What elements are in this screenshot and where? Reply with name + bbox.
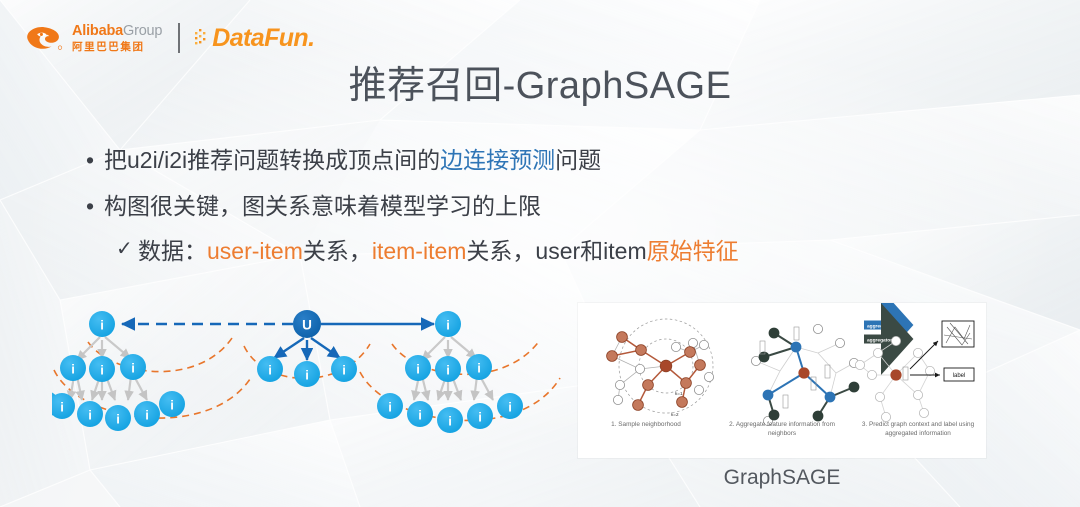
sub-seg-user-item: user-item [207,238,303,264]
svg-text:i: i [88,408,92,423]
label-box: label [944,368,974,381]
alibaba-logo-line1: AlibabaGroup [72,24,162,39]
sub-seg-raw-features: 原始特征 [647,238,739,264]
svg-text:i: i [478,410,482,425]
bullet-2-text: 构图很关键，图关系意味着模型学习的上限 [104,192,541,221]
bullet-list: • 把u2i/i2i推荐问题转换成顶点间的边连接预测问题 • 构图很关键，图关系… [86,146,739,265]
alibaba-logo-chinese: 阿里巴巴集团 [72,42,162,53]
svg-text:aggregator: aggregator [867,337,892,343]
u2i-i2i-graph-illustration: i i i i i i i i [52,296,582,476]
bullet-1-text: 把u2i/i2i推荐问题转换成顶点间的边连接预测问题 [104,146,601,175]
alibaba-logo-text: AlibabaGroup 阿里巴巴集团 [72,24,162,52]
alibaba-smiley-icon [24,23,66,53]
right-level2-nodes: i i i i i [377,393,523,433]
graphsage-panel-captions: 1. Sample neighborhood 2. Aggregate feat… [578,421,986,438]
svg-text:aggregator: aggregator [867,323,892,329]
svg-text:i: i [60,400,64,415]
bullet-item-2: • 构图很关键，图关系意味着模型学习的上限 [86,192,739,221]
right-item-cluster: i i i i i i i i i [360,311,560,433]
alibaba-group-logo: AlibabaGroup 阿里巴巴集团 [24,23,162,53]
bullet-1-highlight: 边连接预测 [440,147,555,173]
alibaba-word: Alibaba [72,23,123,39]
svg-text:i: i [268,363,272,378]
datafun-logo: DataFun. [194,26,314,51]
svg-text:i: i [131,361,135,376]
svg-text:i: i [446,318,450,333]
center-child-nodes: i i i [257,356,357,387]
logo-separator [178,23,180,53]
svg-text:i: i [446,363,450,378]
slide-root: AlibabaGroup 阿里巴巴集团 DataFun. 推荐召回-GraphS… [0,0,1080,507]
svg-text:i: i [477,361,481,376]
left-item-cluster: i i i i i i i i [52,311,252,431]
k2-annotation: k=2 [671,412,679,417]
svg-text:i: i [116,412,120,427]
k1-annotation: k=1 [675,391,683,396]
svg-text:i: i [342,363,346,378]
sub-bullet-text: 数据：user-item关系，item-item关系，user和item原始特征 [138,237,739,266]
right-level1-nodes: i i i [405,354,492,382]
graph-context-box [942,321,974,347]
bullet-1-seg-1: 把u2i/i2i推荐问题转换成顶点间的 [104,147,440,173]
svg-text:i: i [448,414,452,429]
left-level2-nodes: i i i i i [52,391,185,431]
slide-title: 推荐召回-GraphSAGE [0,54,1080,109]
user-node: U [293,310,321,338]
center-tree-edges [274,338,340,360]
sub-seg-user-and-item: user和item [535,238,646,264]
graphsage-figure-label: GraphSAGE [578,466,986,490]
bullet-item-1: • 把u2i/i2i推荐问题转换成顶点间的边连接预测问题 [86,146,739,175]
header-logo-bar: AlibabaGroup 阿里巴巴集团 DataFun. [24,16,314,60]
left-root-node: i [89,311,115,337]
svg-text:i: i [100,363,104,378]
svg-text:i: i [145,408,149,423]
center-user-cluster: U i i i [122,310,434,387]
panel-1-caption: 1. Sample neighborhood [578,421,714,438]
sub-seg-label: 数据： [138,238,207,264]
panel-2-caption: 2. Aggregate feature information from ne… [714,421,850,438]
svg-text:i: i [100,318,104,333]
panel-3-caption: 3. Predict graph context and label using… [850,421,986,438]
left-level1-nodes: i i i [60,354,146,382]
sub-bullet-item: ✓ 数据：user-item关系，item-item关系，user和item原始… [116,237,739,266]
datafun-dots-icon [194,27,210,49]
graphsage-figure-panel: k=1 k=2 [578,303,986,458]
svg-text:i: i [170,398,174,413]
svg-text:i: i [416,362,420,377]
svg-text:label: label [953,373,966,379]
group-word: Group [123,23,162,39]
sub-seg-rel1: 关系， [303,238,372,264]
svg-text:i: i [305,368,309,383]
svg-text:i: i [388,400,392,415]
right-root-node: i [435,311,461,337]
bullet-marker: • [86,146,104,175]
svg-text:U: U [302,318,312,333]
svg-text:i: i [418,408,422,423]
sub-seg-rel2: 关系， [466,238,535,264]
datafun-wordmark: DataFun. [212,26,314,51]
check-marker-icon: ✓ [116,237,138,262]
bullet-marker: • [86,192,104,221]
svg-text:i: i [508,400,512,415]
bullet-1-seg-3: 问题 [555,147,601,173]
sub-seg-item-item: item-item [372,238,467,264]
svg-text:i: i [71,362,75,377]
